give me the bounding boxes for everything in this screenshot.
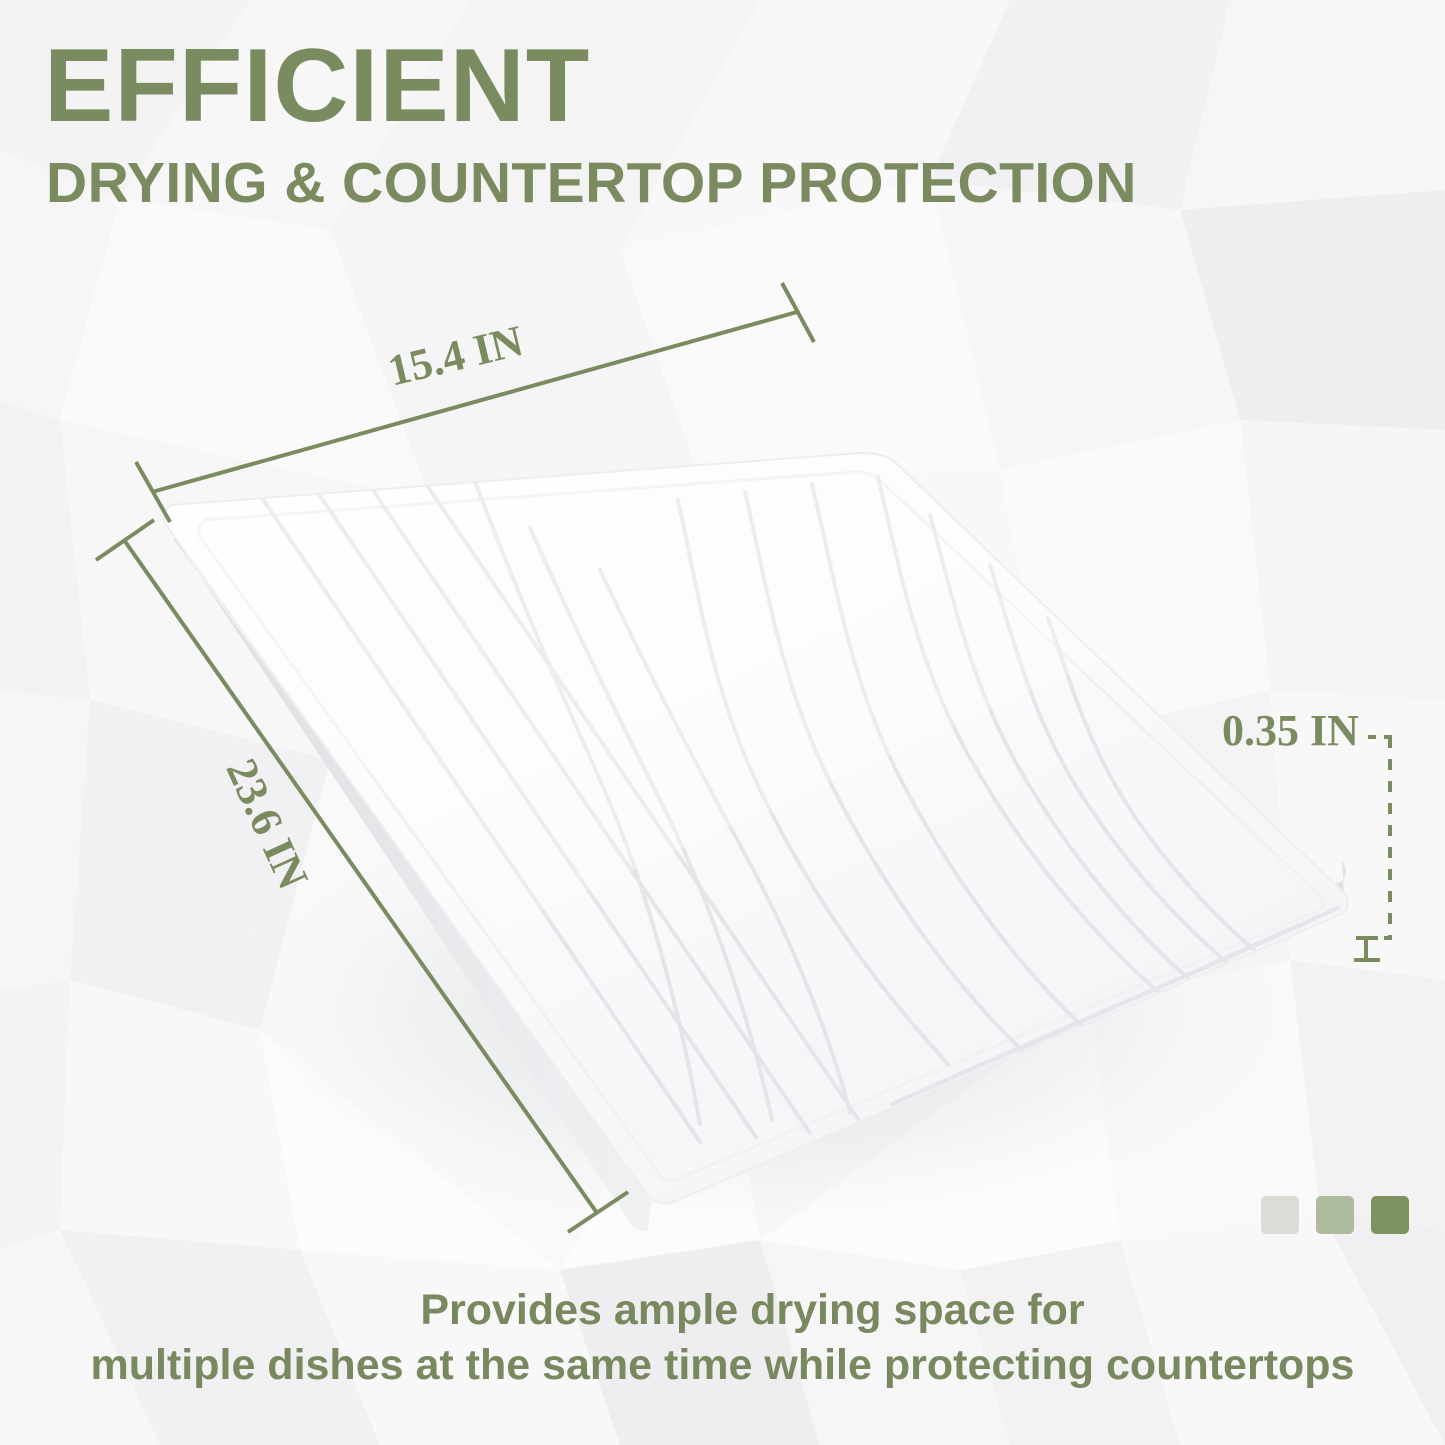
swatch-sage-green[interactable] [1316, 1196, 1354, 1234]
caption-line-1: Provides ample drying space for [0, 1283, 1445, 1338]
product-infographic: EFFICIENT DRYING & COUNTERTOP PROTECTION [0, 0, 1445, 1445]
swatch-olive-green[interactable] [1371, 1196, 1409, 1234]
headline-line-2: DRYING & COUNTERTOP PROTECTION [46, 154, 1137, 214]
headline-block: EFFICIENT DRYING & COUNTERTOP PROTECTION [44, 36, 1137, 214]
headline-line-1: EFFICIENT [44, 36, 1137, 138]
dimension-label-thickness: 0.35 IN [1222, 705, 1359, 756]
swatch-light-gray[interactable] [1261, 1196, 1299, 1234]
caption-line-2: multiple dishes at the same time while p… [0, 1338, 1445, 1393]
color-swatch-group [1261, 1196, 1409, 1234]
caption-block: Provides ample drying space for multiple… [0, 1283, 1445, 1393]
